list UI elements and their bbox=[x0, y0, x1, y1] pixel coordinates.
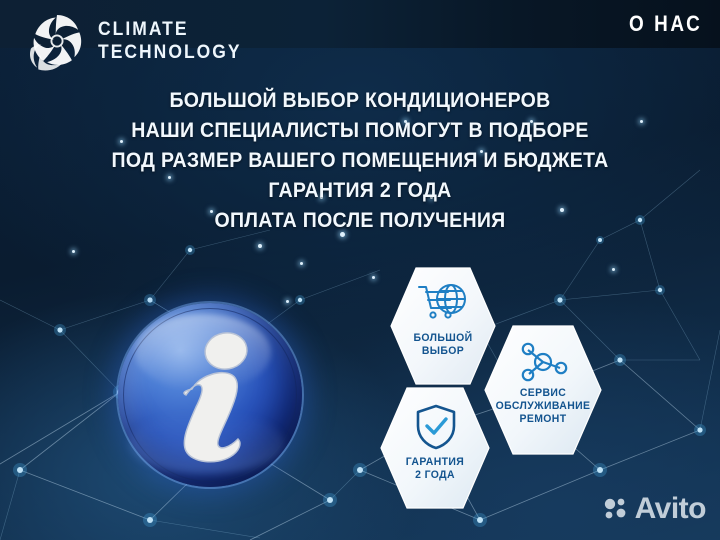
feature-service-line1: СЕРВИС bbox=[486, 387, 600, 400]
feature-warranty-line2: 2 ГОДА bbox=[382, 469, 488, 482]
brand-wordmark: CLIMATE TECHNOLOGY bbox=[98, 20, 254, 62]
headline-line-4: ГАРАНТИЯ 2 ГОДА bbox=[25, 176, 695, 206]
headline-line-1: БОЛЬШОЙ ВЫБОР КОНДИЦИОНЕРОВ bbox=[25, 86, 695, 116]
headline-line-3: ПОД РАЗМЕР ВАШЕГО ПОМЕЩЕНИЯ И БЮДЖЕТА bbox=[25, 146, 695, 176]
poster-canvas: О НАС CLIMATE TECHNOLOGY БОЛЬШОЙ ВЫБОР К… bbox=[0, 0, 720, 540]
feature-warranty-line1: ГАРАНТИЯ bbox=[382, 456, 488, 469]
headline-line-5: ОПЛАТА ПОСЛЕ ПОЛУЧЕНИЯ bbox=[25, 206, 695, 236]
network-nodes-icon bbox=[516, 340, 570, 384]
letter-i-glyph bbox=[118, 303, 302, 487]
headline-line-2: НАШИ СПЕЦИАЛИСТЫ ПОМОГУТ В ПОДБОРЕ bbox=[25, 116, 695, 146]
avito-watermark: Avito bbox=[603, 492, 706, 526]
feature-choice-line2: ВЫБОР bbox=[392, 345, 495, 358]
feature-card-warranty[interactable]: ГАРАНТИЯ 2 ГОДА bbox=[379, 386, 491, 510]
avito-wordmark: Avito bbox=[635, 492, 706, 526]
fan-spiral-icon bbox=[26, 10, 88, 72]
avito-dots-icon bbox=[603, 496, 629, 522]
brand-name-line2: TECHNOLOGY bbox=[98, 43, 242, 62]
feature-service-line3: РЕМОНТ bbox=[486, 413, 600, 426]
feature-label-service: СЕРВИС ОБСЛУЖИВАНИЕ РЕМОНТ bbox=[486, 387, 600, 426]
feature-service-line2: ОБСЛУЖИВАНИЕ bbox=[486, 400, 600, 413]
cart-globe-icon bbox=[417, 282, 469, 324]
shield-check-icon bbox=[415, 404, 457, 450]
feature-card-service[interactable]: СЕРВИС ОБСЛУЖИВАНИЕ РЕМОНТ bbox=[483, 324, 603, 456]
feature-label-warranty: ГАРАНТИЯ 2 ГОДА bbox=[382, 456, 488, 482]
feature-label-choice: БОЛЬШОЙ ВЫБОР bbox=[392, 332, 495, 358]
feature-choice-line1: БОЛЬШОЙ bbox=[392, 332, 495, 345]
information-sphere-icon bbox=[118, 303, 302, 487]
headline-block: БОЛЬШОЙ ВЫБОР КОНДИЦИОНЕРОВ НАШИ СПЕЦИАЛ… bbox=[0, 86, 720, 236]
page-title: О НАС bbox=[617, 8, 702, 40]
brand-name-line1: CLIMATE bbox=[98, 20, 242, 39]
brand-logo[interactable]: CLIMATE TECHNOLOGY bbox=[26, 10, 254, 72]
page-title-text: О НАС bbox=[629, 11, 702, 37]
particle-field bbox=[0, 0, 720, 540]
feature-card-choice[interactable]: БОЛЬШОЙ ВЫБОР bbox=[389, 266, 497, 386]
